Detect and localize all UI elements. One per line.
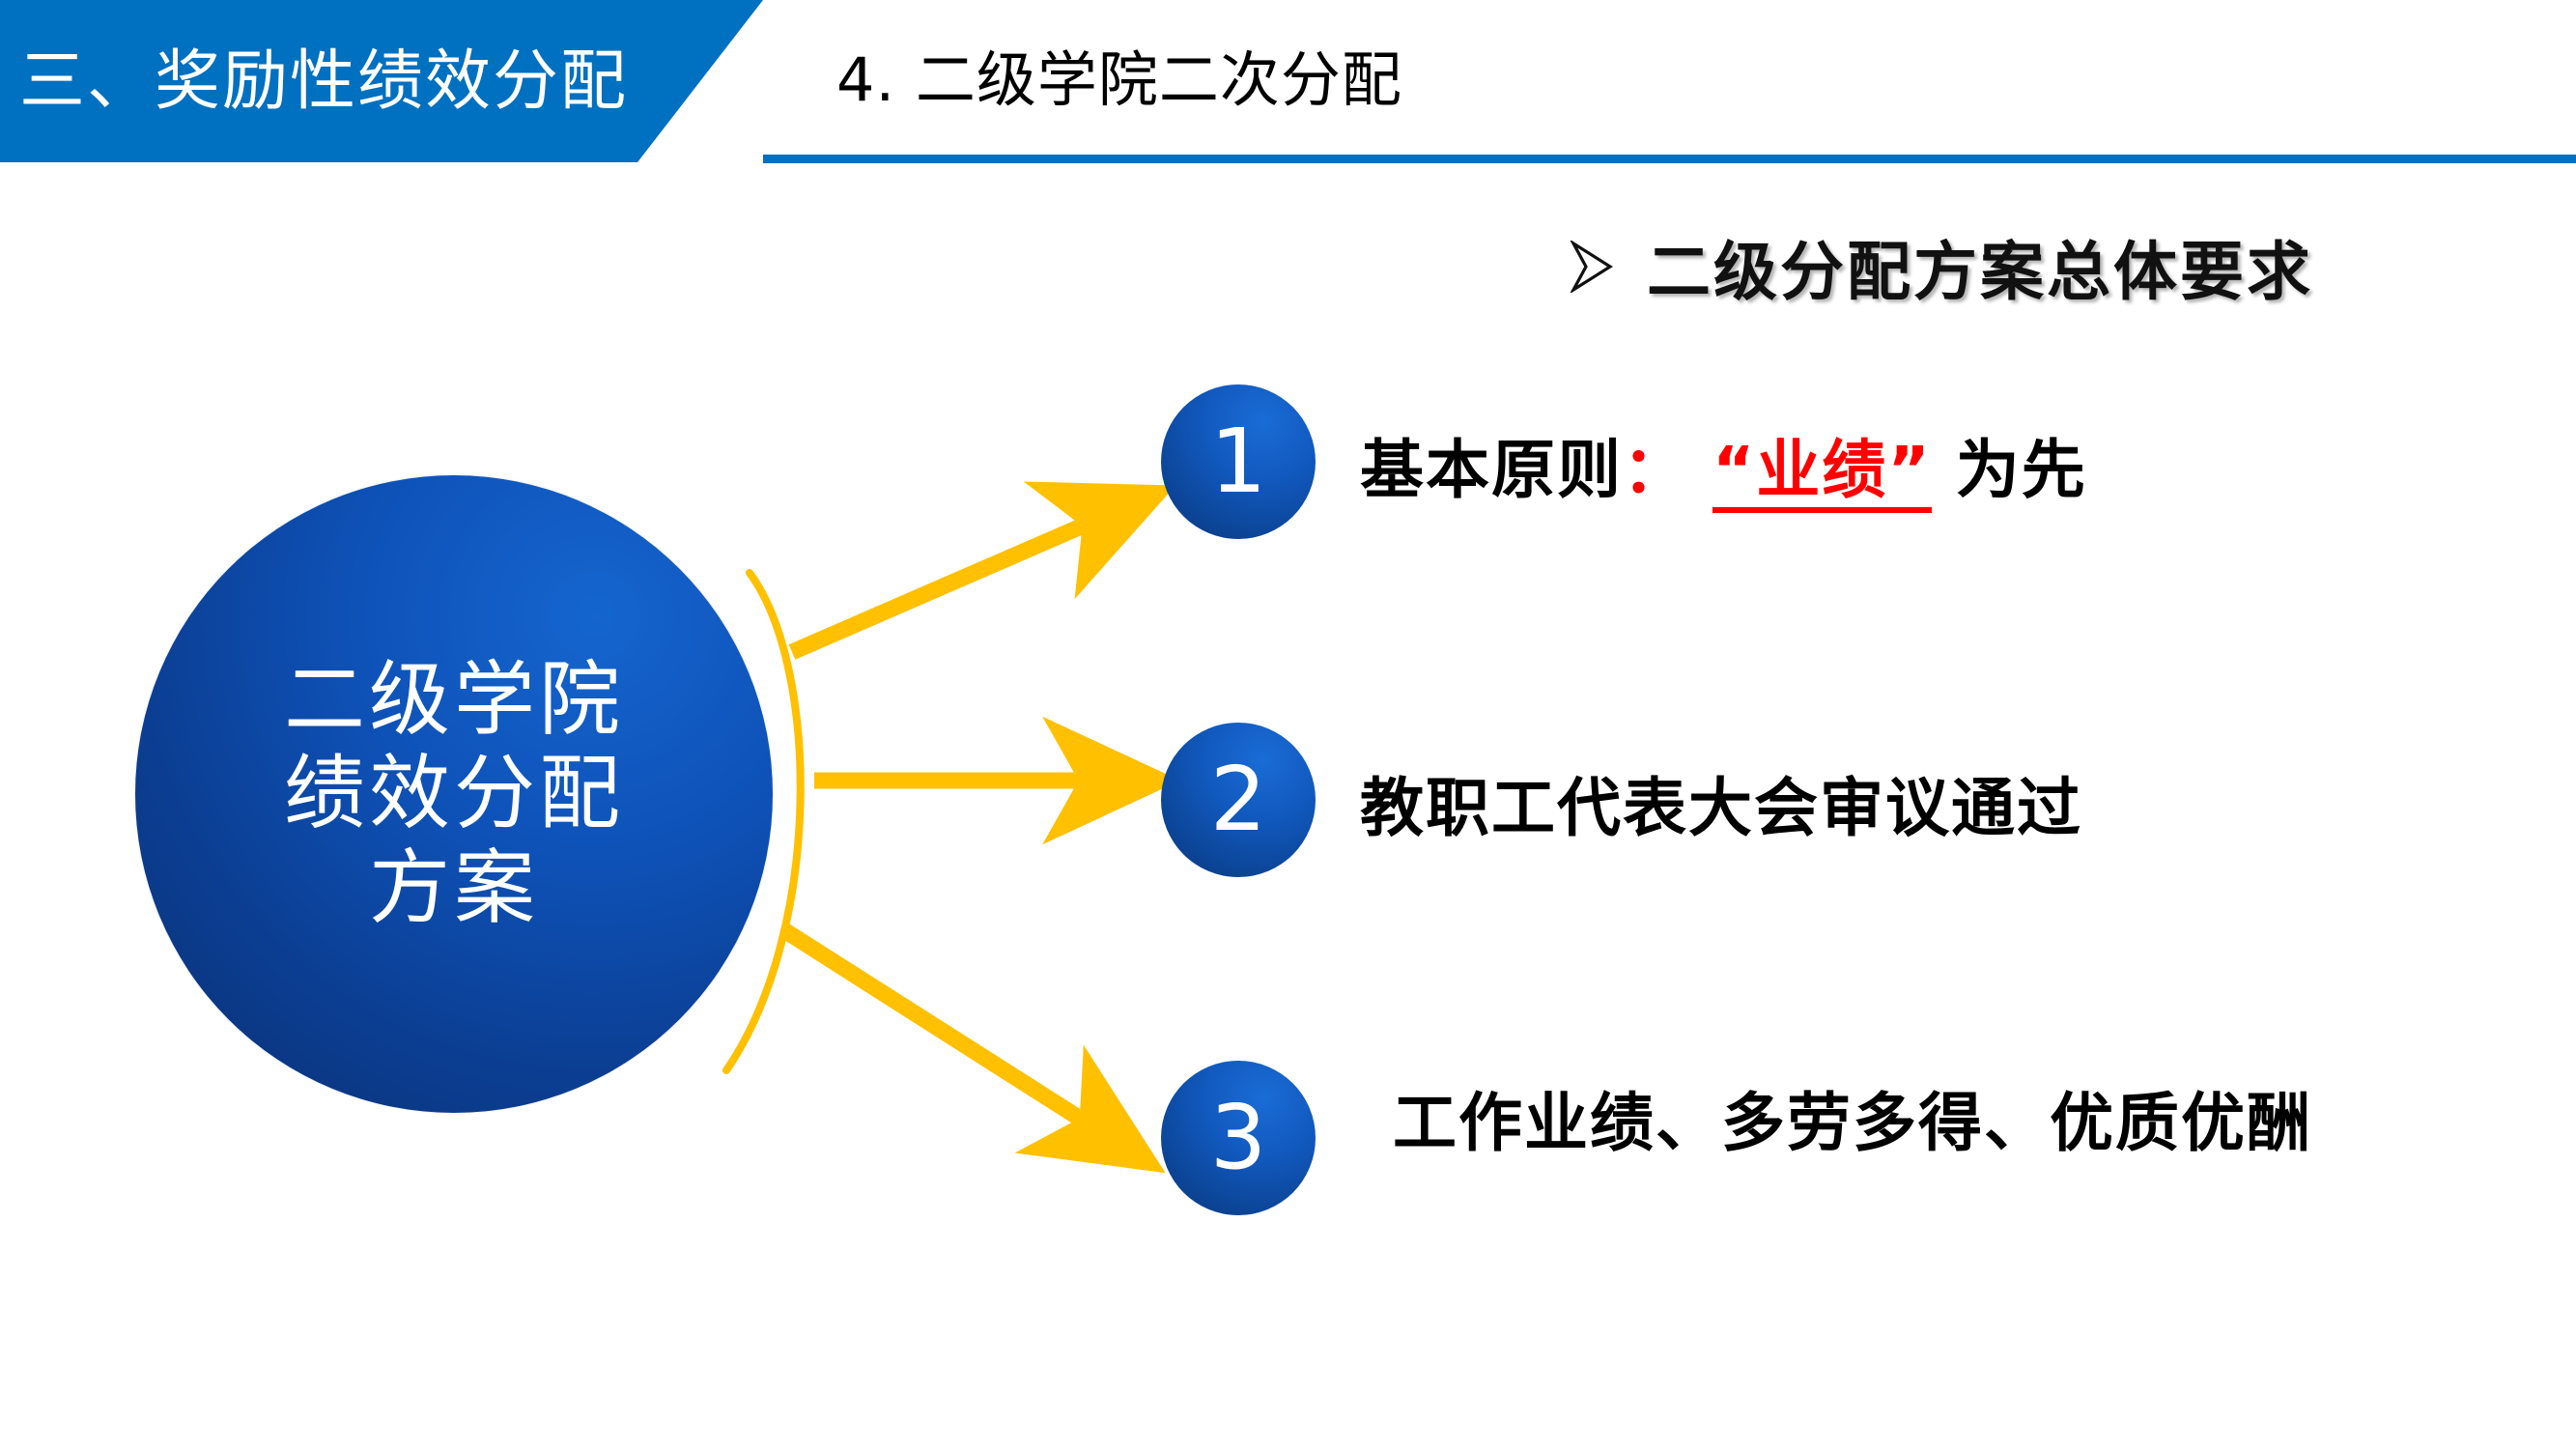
hub-line-3: 方案: [369, 841, 539, 935]
text-run-1: 基本原则: [1360, 433, 1623, 507]
hub-circle: 二级学院 绩效分配 方案: [135, 475, 773, 1113]
header-divider-rule: [763, 155, 2576, 163]
section-heading: 二级分配方案总体要求: [1570, 220, 2313, 313]
text-run-3: [1688, 433, 1713, 507]
hub-line-2: 绩效分配: [284, 747, 624, 840]
slide-header: 三、奖励性绩效分配 4. 二级学院二次分配: [0, 0, 2576, 184]
header-banner-label: 三、奖励性绩效分配: [19, 27, 715, 123]
connector-arrow-1: [792, 498, 1146, 652]
arrow-bullet-icon: [1570, 241, 1614, 293]
section-heading-text: 二级分配方案总体要求: [1647, 220, 2313, 313]
text-run-1: 工作业绩、多劳多得、优质优酬: [1393, 1086, 2312, 1160]
item-node-1[interactable]: 1: [1161, 384, 1316, 539]
item-node-1-number: 1: [1210, 417, 1267, 506]
item-1-text: 基本原则： “业绩” 为先: [1360, 422, 2087, 518]
connector-arrow-3: [784, 930, 1138, 1155]
hub-line-1: 二级学院: [284, 653, 624, 747]
item-2-text: 教职工代表大会审议通过: [1360, 760, 2082, 856]
text-run-1: 教职工代表大会审议通过: [1360, 771, 2082, 845]
item-node-3-number: 3: [1210, 1094, 1267, 1182]
item-3-text: 工作业绩、多劳多得、优质优酬: [1370, 1075, 2335, 1171]
header-subtitle: 4. 二级学院二次分配: [836, 31, 1402, 118]
item-node-3[interactable]: 3: [1161, 1061, 1316, 1215]
slide-canvas: 三、奖励性绩效分配 4. 二级学院二次分配 二级分配方案总体要求 二级学院 绩效…: [0, 0, 2576, 1450]
item-node-2[interactable]: 2: [1161, 723, 1316, 877]
text-run-5: 为先: [1932, 433, 2087, 507]
text-run-2: ：: [1623, 433, 1688, 507]
text-run-4: “业绩”: [1713, 433, 1932, 513]
item-node-2-number: 2: [1210, 755, 1267, 844]
